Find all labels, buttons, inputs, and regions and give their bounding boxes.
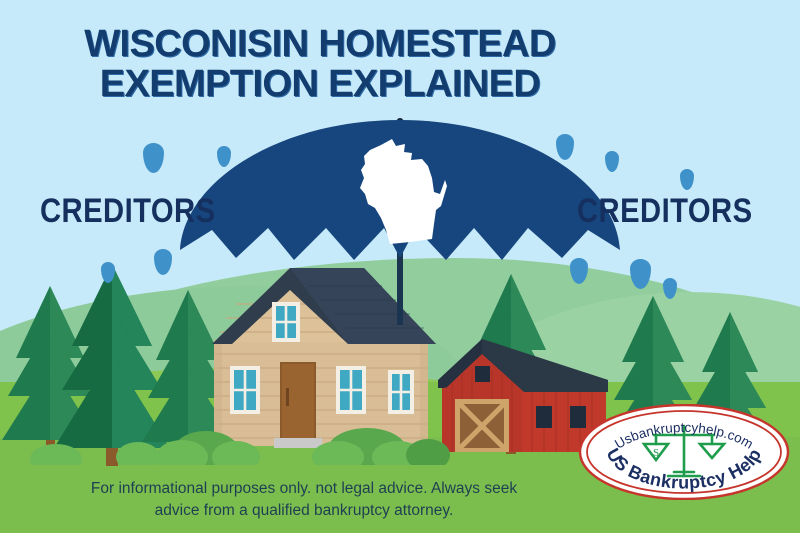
wisconsin-state-icon	[348, 134, 458, 254]
creditors-label-right: CREDITORS	[577, 192, 753, 231]
title-line-2: EXEMPTION EXPLAINED	[0, 64, 640, 104]
logo-currency-glyph: S	[653, 447, 659, 459]
page-title: WISCONISIN HOMESTEAD EXEMPTION EXPLAINED	[0, 24, 640, 105]
disclaimer-text: For informational purposes only. not leg…	[44, 478, 564, 523]
creditors-label-left: CREDITORS	[40, 192, 216, 231]
infographic-canvas: WISCONISIN HOMESTEAD EXEMPTION EXPLAINED…	[0, 0, 800, 533]
disclaimer-line-2: advice from a qualified bankruptcy attor…	[44, 500, 564, 522]
disclaimer-line-1: For informational purposes only. not leg…	[91, 480, 517, 497]
title-line-1: WISCONISIN HOMESTEAD	[84, 23, 555, 65]
us-bankruptcy-help-logo[interactable]: S US Bankruptcy Help Usbankruptcyhelp.co…	[578, 404, 790, 500]
